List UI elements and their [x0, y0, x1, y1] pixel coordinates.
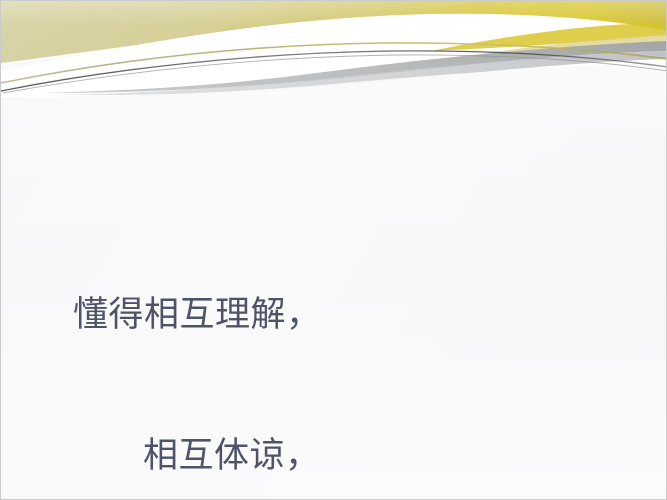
text-line-2: 相互体谅，	[1, 432, 667, 479]
wave-header-graphic	[1, 1, 667, 97]
text-line-1: 懂得相互理解，	[1, 291, 667, 338]
wave-header-band	[1, 1, 667, 97]
slide-body-text: 懂得相互理解， 相互体谅， 相互信任， 就是一种尊重。	[1, 197, 667, 500]
presentation-slide: 懂得相互理解， 相互体谅， 相互信任， 就是一种尊重。	[0, 0, 667, 500]
